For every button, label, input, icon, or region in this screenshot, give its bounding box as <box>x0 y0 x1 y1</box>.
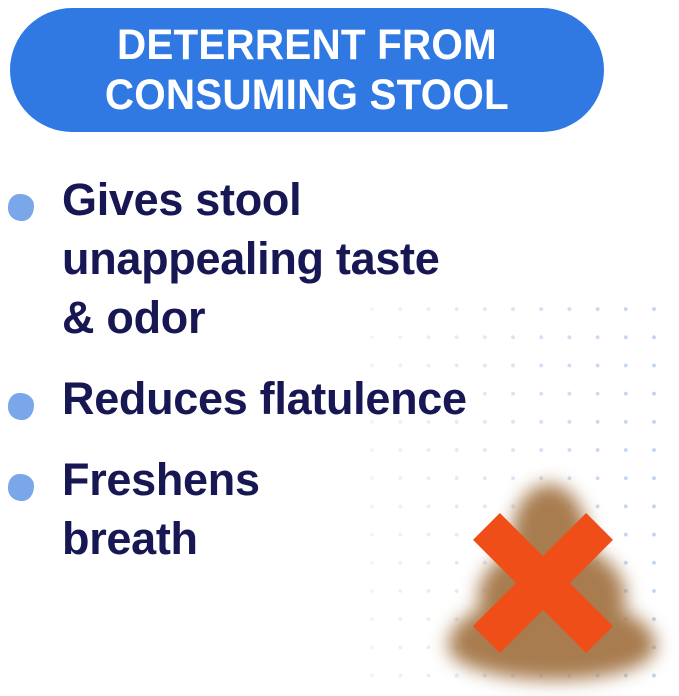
no-stool-graphic <box>438 476 670 696</box>
red-x-cross-icon <box>458 498 628 668</box>
benefit-text: Gives stool unappealing taste & odor <box>62 170 640 347</box>
title-pill: DETERRENT FROM CONSUMING STOOL <box>10 8 604 132</box>
benefit-text: Reduces flatulence <box>62 369 640 428</box>
bullet-dot-icon <box>8 474 34 501</box>
list-item: Reduces flatulence <box>0 369 640 428</box>
list-item: Gives stool unappealing taste & odor <box>0 170 640 347</box>
bullet-dot-icon <box>8 393 34 420</box>
bullet-dot-icon <box>8 194 34 221</box>
page-title: DETERRENT FROM CONSUMING STOOL <box>105 20 509 120</box>
infographic-canvas: DETERRENT FROM CONSUMING STOOL Gives sto… <box>0 0 679 696</box>
